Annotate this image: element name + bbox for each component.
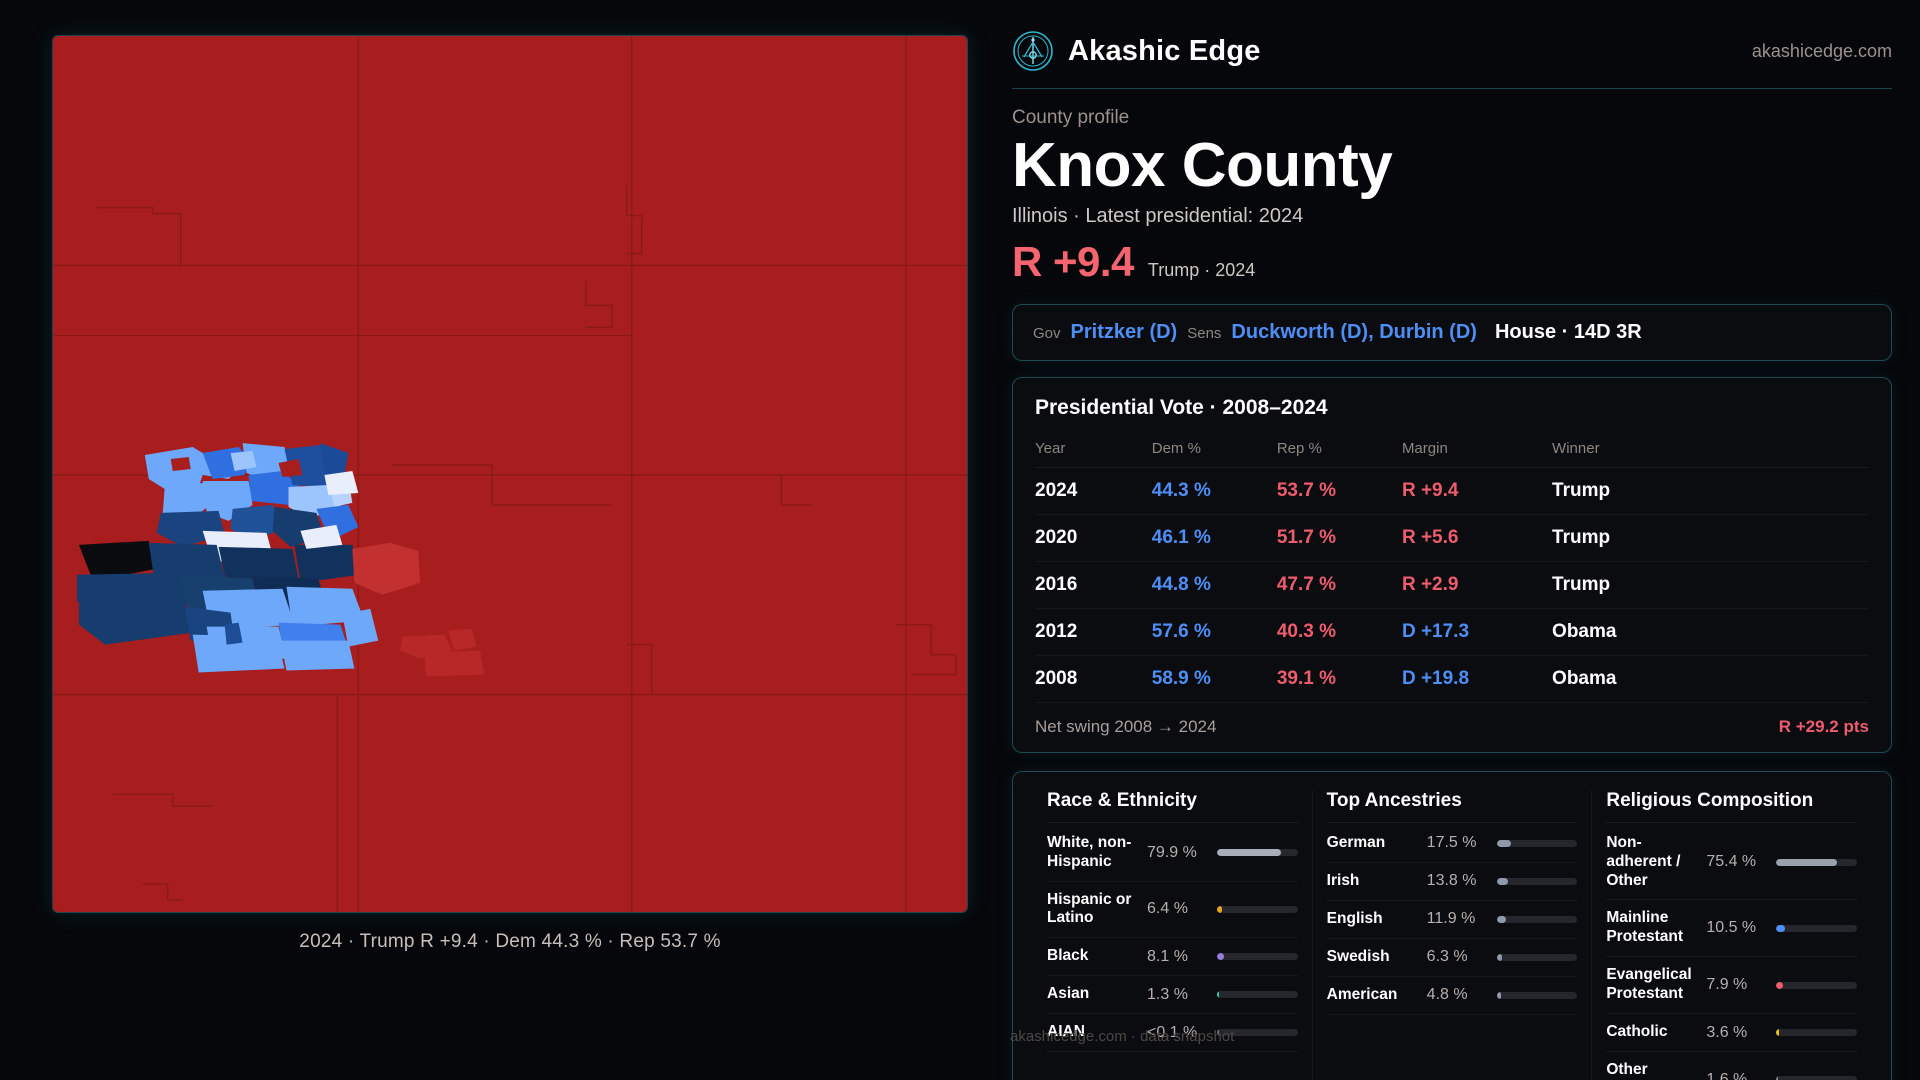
cell-rep: 47.7 % — [1277, 561, 1402, 608]
demo-row-bar — [1776, 982, 1857, 989]
demo-column-title: Race & Ethnicity — [1047, 790, 1298, 823]
table-row[interactable]: 200858.9 %39.1 %D +19.8Obama — [1035, 655, 1869, 702]
demo-row: Evangelical Protestant7.9 % — [1606, 957, 1857, 1014]
demo-row: Hispanic or Latino6.4 % — [1047, 882, 1298, 939]
col-margin: Margin — [1402, 434, 1552, 468]
demo-row: White, non-Hispanic79.9 % — [1047, 825, 1298, 882]
demo-row-bar-fill — [1776, 1076, 1778, 1080]
cell-margin: R +9.4 — [1402, 467, 1552, 514]
cell-winner: Trump — [1552, 467, 1869, 514]
demo-row: German17.5 % — [1327, 825, 1578, 863]
brand-website[interactable]: akashicedge.com — [1752, 41, 1892, 62]
net-swing-row: Net swing 2008 → 2024 R +29.2 pts — [1035, 703, 1869, 752]
precinct-map[interactable] — [52, 35, 968, 913]
page-subtitle: Illinois · Latest presidential: 2024 — [1012, 205, 1892, 228]
brand-bar: Akashic Edge akashicedge.com — [1012, 30, 1892, 89]
demo-row: Other tradition1.6 % — [1606, 1052, 1857, 1080]
demo-row-value: 1.6 % — [1706, 1071, 1768, 1080]
col-winner: Winner — [1552, 434, 1869, 468]
precinct-map-svg — [53, 36, 967, 912]
demo-row-bar — [1497, 954, 1578, 961]
demo-row-label: Hispanic or Latino — [1047, 891, 1139, 929]
demographics-card: Race & EthnicityWhite, non-Hispanic79.9 … — [1012, 771, 1892, 1080]
brand-name: Akashic Edge — [1068, 35, 1261, 68]
cell-year: 2020 — [1035, 514, 1152, 561]
demo-row-label: German — [1327, 834, 1419, 853]
officials-bar: Gov Pritzker (D) Sens Duckworth (D), Dur… — [1012, 304, 1892, 361]
demo-row-value: 13.8 % — [1427, 872, 1489, 890]
governor-value[interactable]: Pritzker (D) — [1071, 321, 1178, 344]
demo-row-bar — [1776, 1076, 1857, 1080]
demo-row-bar — [1217, 906, 1298, 913]
demo-row-bar-fill — [1776, 859, 1837, 866]
headline-margin-value: R +9.4 — [1012, 238, 1134, 286]
demo-row-label: Non-adherent / Other — [1606, 834, 1698, 891]
demo-row-value: 4.8 % — [1427, 986, 1489, 1004]
demo-column-title: Religious Composition — [1606, 790, 1857, 823]
demo-row: Swedish6.3 % — [1327, 939, 1578, 977]
cell-year: 2024 — [1035, 467, 1152, 514]
demo-row-value: <0.1 % — [1147, 1024, 1209, 1042]
col-dem: Dem % — [1152, 434, 1277, 468]
demo-row-value: 6.4 % — [1147, 900, 1209, 918]
demo-row-label: Irish — [1327, 872, 1419, 891]
demo-row-bar — [1217, 953, 1298, 960]
demo-column-2: Religious CompositionNon-adherent / Othe… — [1591, 790, 1871, 1080]
demo-row-bar-fill — [1497, 954, 1502, 961]
cell-dem: 58.9 % — [1152, 655, 1277, 702]
cell-dem: 44.8 % — [1152, 561, 1277, 608]
demo-row-bar-fill — [1776, 982, 1782, 989]
demo-column-0: Race & EthnicityWhite, non-Hispanic79.9 … — [1033, 790, 1312, 1080]
senators-label: Sens — [1187, 325, 1221, 342]
vote-card-title: Presidential Vote · 2008–2024 — [1035, 396, 1869, 420]
demo-row-value: 10.5 % — [1706, 919, 1768, 937]
demo-row: AIAN<0.1 % — [1047, 1014, 1298, 1052]
headline-margin-detail: Trump · 2024 — [1148, 260, 1255, 281]
demo-row-bar-fill — [1776, 1029, 1779, 1036]
demo-row-label: Other tradition — [1606, 1061, 1698, 1080]
cell-margin: R +2.9 — [1402, 561, 1552, 608]
cell-rep: 39.1 % — [1277, 655, 1402, 702]
demo-row-value: 75.4 % — [1706, 853, 1768, 871]
demo-row-bar-fill — [1217, 849, 1281, 856]
demo-row: Asian1.3 % — [1047, 976, 1298, 1014]
demo-row: Irish13.8 % — [1327, 863, 1578, 901]
demo-row-value: 7.9 % — [1706, 976, 1768, 994]
demo-row-bar — [1497, 878, 1578, 885]
senators-value[interactable]: Duckworth (D), Durbin (D) — [1231, 321, 1477, 344]
table-header-row: Year Dem % Rep % Margin Winner — [1035, 434, 1869, 468]
headline-margin: R +9.4 Trump · 2024 — [1012, 238, 1892, 286]
demo-row-bar — [1776, 859, 1857, 866]
cell-year: 2016 — [1035, 561, 1152, 608]
county-profile-page: 2024 · Trump R +9.4 · Dem 44.3 % · Rep 5… — [0, 0, 1920, 1080]
cell-margin: R +5.6 — [1402, 514, 1552, 561]
demo-row-label: Asian — [1047, 985, 1139, 1004]
demo-row-label: American — [1327, 986, 1419, 1005]
demo-row-value: 6.3 % — [1427, 948, 1489, 966]
cell-rep: 40.3 % — [1277, 608, 1402, 655]
col-year: Year — [1035, 434, 1152, 468]
demo-row-label: Swedish — [1327, 948, 1419, 967]
cell-margin: D +19.8 — [1402, 655, 1552, 702]
demo-row-label: English — [1327, 910, 1419, 929]
demo-column-title: Top Ancestries — [1327, 790, 1578, 823]
demo-row-value: 79.9 % — [1147, 844, 1209, 862]
table-row[interactable]: 201644.8 %47.7 %R +2.9Trump — [1035, 561, 1869, 608]
demo-row-value: 1.3 % — [1147, 986, 1209, 1004]
demo-row-bar-fill — [1217, 906, 1222, 913]
map-pane: 2024 · Trump R +9.4 · Dem 44.3 % · Rep 5… — [0, 0, 1000, 1080]
demo-row-bar-fill — [1497, 916, 1507, 923]
demo-row-value: 11.9 % — [1427, 910, 1489, 928]
demo-row-label: Catholic — [1606, 1023, 1698, 1042]
demo-row-bar-fill — [1497, 992, 1501, 999]
cell-rep: 53.7 % — [1277, 467, 1402, 514]
presidential-vote-card: Presidential Vote · 2008–2024 Year Dem %… — [1012, 377, 1892, 753]
demo-row-bar — [1497, 992, 1578, 999]
map-caption: 2024 · Trump R +9.4 · Dem 44.3 % · Rep 5… — [52, 931, 968, 953]
demo-row-label: AIAN — [1047, 1023, 1139, 1042]
cell-year: 2012 — [1035, 608, 1152, 655]
cell-year: 2008 — [1035, 655, 1152, 702]
table-row[interactable]: 202046.1 %51.7 %R +5.6Trump — [1035, 514, 1869, 561]
demo-row-bar — [1776, 925, 1857, 932]
demo-row-value: 3.6 % — [1706, 1024, 1768, 1042]
demo-row-label: Evangelical Protestant — [1606, 966, 1698, 1004]
demo-row: English11.9 % — [1327, 901, 1578, 939]
demo-row: Catholic3.6 % — [1606, 1014, 1857, 1052]
demo-row-value: 17.5 % — [1427, 834, 1489, 852]
cell-dem: 57.6 % — [1152, 608, 1277, 655]
info-pane: Akashic Edge akashicedge.com County prof… — [1000, 0, 1920, 1080]
demo-row-label: White, non-Hispanic — [1047, 834, 1139, 872]
demo-row-label: Black — [1047, 947, 1139, 966]
table-row[interactable]: 202444.3 %53.7 %R +9.4Trump — [1035, 467, 1869, 514]
demo-row: Black8.1 % — [1047, 938, 1298, 976]
cell-winner: Trump — [1552, 514, 1869, 561]
demo-column-1: Top AncestriesGerman17.5 %Irish13.8 %Eng… — [1312, 790, 1592, 1080]
house-delegation: House · 14D 3R — [1495, 321, 1642, 344]
demo-row-bar — [1497, 916, 1578, 923]
cell-rep: 51.7 % — [1277, 514, 1402, 561]
demo-row-bar-fill — [1217, 991, 1219, 998]
demo-row: Mainline Protestant10.5 % — [1606, 900, 1857, 957]
presidential-vote-table: Year Dem % Rep % Margin Winner 202444.3 … — [1035, 434, 1869, 703]
demo-row-bar-fill — [1217, 953, 1224, 960]
cell-winner: Trump — [1552, 561, 1869, 608]
cell-margin: D +17.3 — [1402, 608, 1552, 655]
demo-row-bar-fill — [1497, 840, 1511, 847]
cell-dem: 46.1 % — [1152, 514, 1277, 561]
demo-row-bar — [1217, 991, 1298, 998]
demo-row-bar-fill — [1497, 878, 1508, 885]
demo-row-bar — [1217, 1029, 1298, 1036]
cell-winner: Obama — [1552, 608, 1869, 655]
cell-winner: Obama — [1552, 655, 1869, 702]
demo-row: American4.8 % — [1327, 977, 1578, 1015]
demo-row-bar — [1497, 840, 1578, 847]
demo-row-bar — [1217, 849, 1298, 856]
col-rep: Rep % — [1277, 434, 1402, 468]
page-title: Knox County — [1012, 133, 1892, 199]
table-row[interactable]: 201257.6 %40.3 %D +17.3Obama — [1035, 608, 1869, 655]
governor-label: Gov — [1033, 325, 1061, 342]
demo-row-value: 8.1 % — [1147, 948, 1209, 966]
akashic-emblem-icon — [1012, 30, 1054, 72]
demo-row-bar-fill — [1776, 925, 1784, 932]
net-swing-value: R +29.2 pts — [1779, 717, 1869, 737]
demo-row-label: Mainline Protestant — [1606, 909, 1698, 947]
page-eyebrow: County profile — [1012, 107, 1892, 129]
net-swing-label: Net swing 2008 → 2024 — [1035, 717, 1216, 737]
demo-row: Non-adherent / Other75.4 % — [1606, 825, 1857, 901]
demo-row-bar — [1776, 1029, 1857, 1036]
demo-row-bar-fill — [1217, 1029, 1219, 1036]
cell-dem: 44.3 % — [1152, 467, 1277, 514]
